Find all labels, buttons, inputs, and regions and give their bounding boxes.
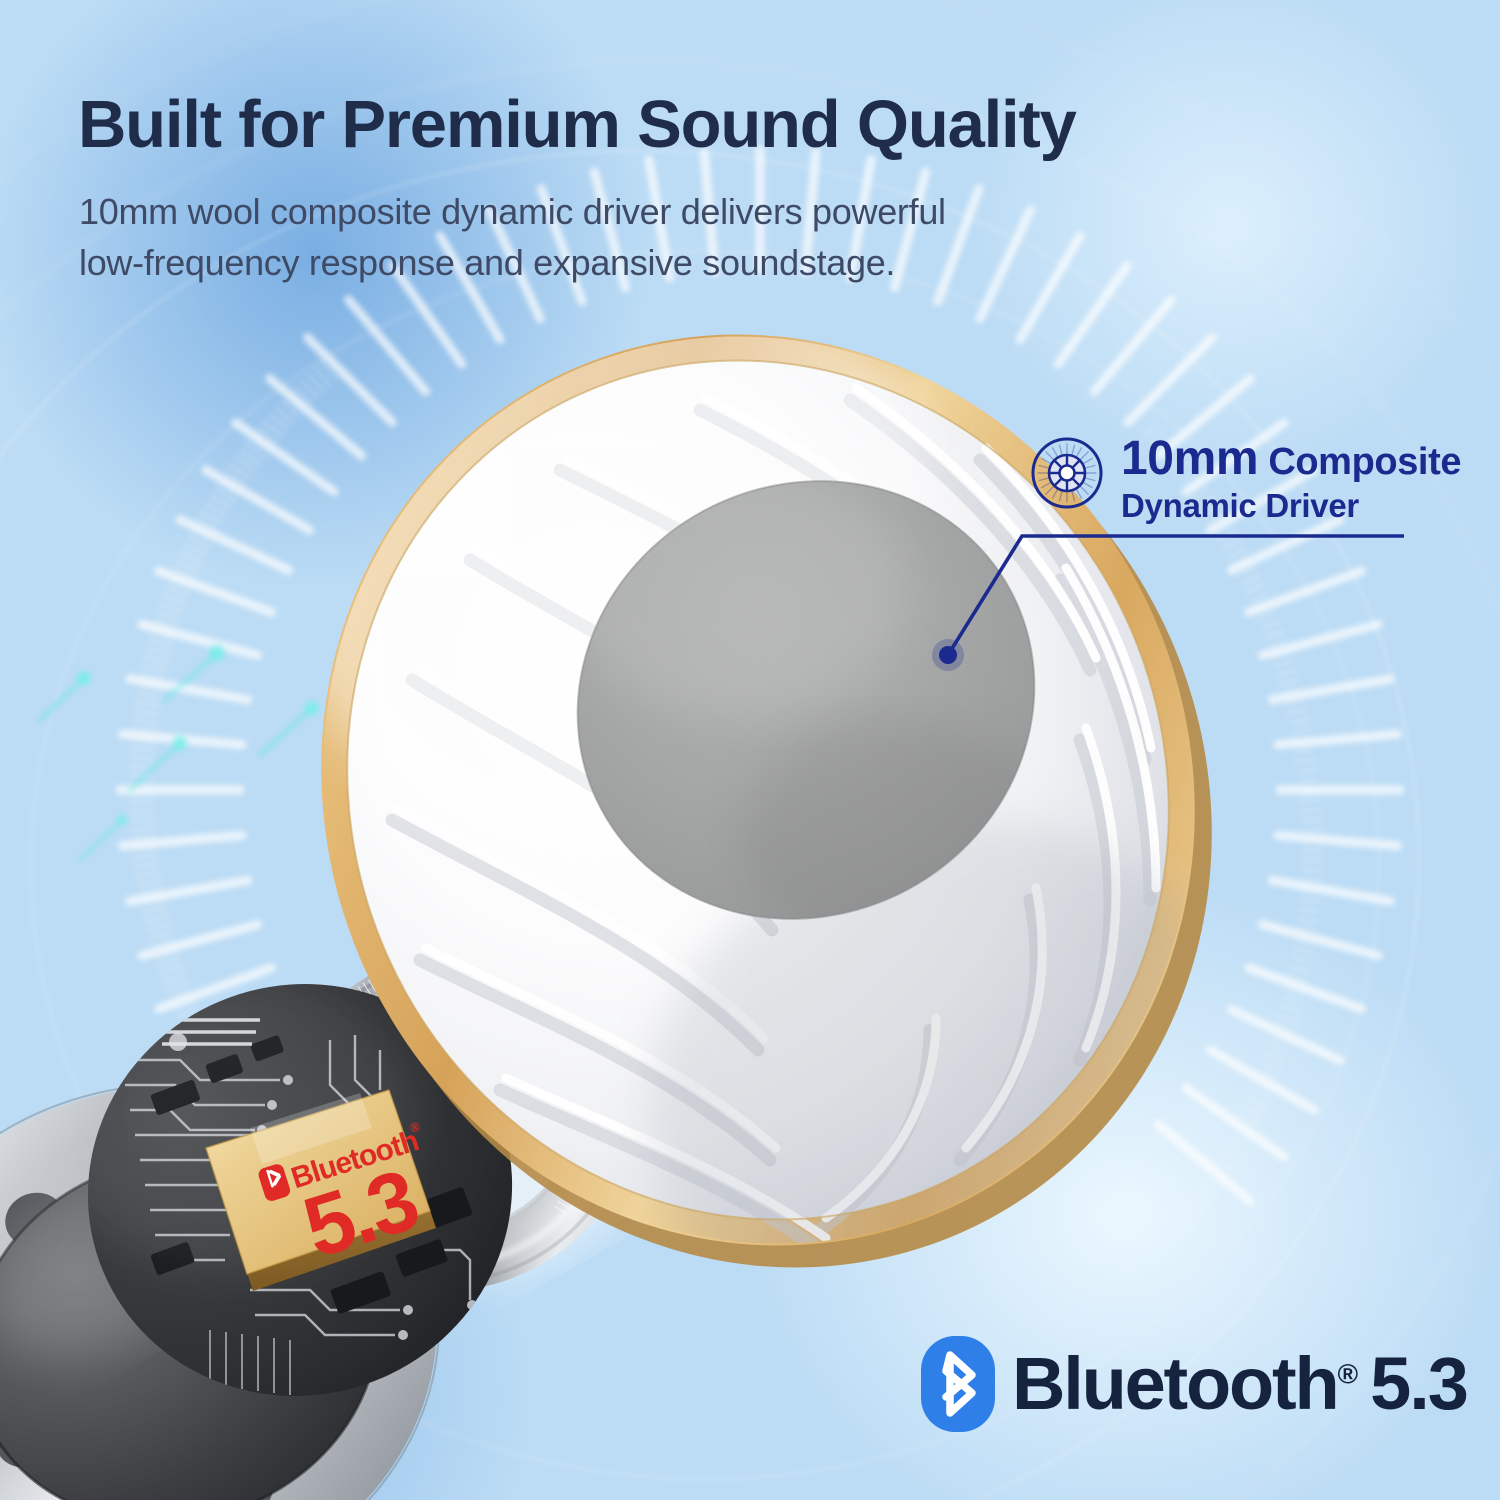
callout-driver-material: Composite — [1268, 441, 1461, 483]
driver-callout: 10mm Composite Dynamic Driver — [1030, 432, 1461, 525]
page-title: Built for Premium Sound Quality — [78, 86, 1076, 163]
particle-streaks — [40, 645, 319, 860]
page-subtitle: 10mm wool composite dynamic driver deliv… — [79, 186, 946, 288]
bluetooth-wordmark: Bluetooth®5.3 — [1012, 1347, 1467, 1421]
bluetooth-version-logo: Bluetooth®5.3 — [920, 1335, 1467, 1433]
bluetooth-version-number: 5.3 — [1370, 1342, 1467, 1425]
infographic-canvas: Bluetooth ® 5.3 — [0, 0, 1500, 1500]
speaker-driver-icon — [1030, 436, 1104, 510]
registered-mark: ® — [1337, 1358, 1358, 1389]
bluetooth-icon — [920, 1335, 996, 1433]
bluetooth-word-text: Bluetooth — [1012, 1342, 1337, 1425]
callout-driver-type: Dynamic Driver — [1121, 488, 1461, 525]
callout-driver-size: 10mm — [1121, 432, 1258, 485]
